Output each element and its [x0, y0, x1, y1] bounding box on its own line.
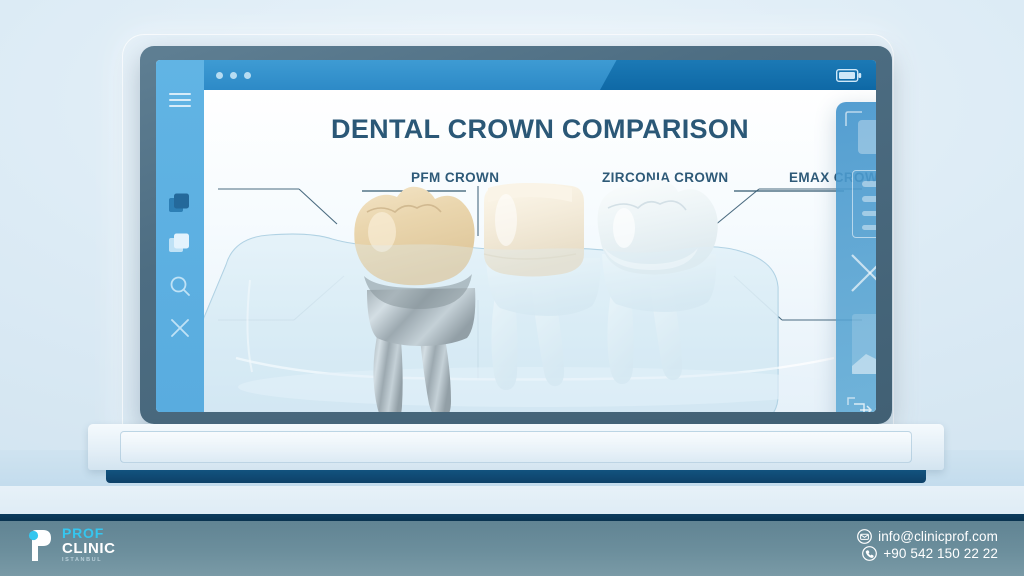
prof-clinic-logo-mark: [26, 528, 54, 562]
footer-top-strip: [0, 514, 1024, 521]
brand-logo[interactable]: PROF CLINIC ISTANBUL: [26, 526, 116, 564]
brand-city: ISTANBUL: [62, 558, 116, 564]
window-dot-3[interactable]: [244, 72, 251, 79]
laptop-front-edge: [106, 470, 926, 483]
footer-bar: PROF CLINIC ISTANBUL info@clinicprof.com: [0, 514, 1024, 576]
skeleton-text-line: [862, 225, 876, 230]
laptop-bezel: DENTAL CROWN COMPARISON PFM CROWN ZIRCON…: [140, 46, 892, 424]
window-dot-1[interactable]: [216, 72, 223, 79]
area-chart: [852, 314, 876, 374]
app-titlebar: [204, 60, 876, 90]
laptop: DENTAL CROWN COMPARISON PFM CROWN ZIRCON…: [140, 46, 892, 526]
contact-email-row[interactable]: info@clinicprof.com: [857, 529, 998, 544]
battery-icon: [836, 69, 862, 87]
contact-phone-row[interactable]: +90 542 150 22 22: [857, 546, 998, 561]
laptop-trackpad-inset: [120, 431, 912, 463]
brand-name-clinic: CLINIC: [62, 541, 116, 556]
overlay-panel: [836, 102, 876, 412]
window-dot-2[interactable]: [230, 72, 237, 79]
layers-icon[interactable]: [166, 190, 194, 218]
laptop-screen: DENTAL CROWN COMPARISON PFM CROWN ZIRCON…: [156, 60, 876, 412]
close-icon[interactable]: [166, 314, 194, 342]
brand-logo-text: PROF CLINIC ISTANBUL: [62, 526, 116, 564]
placeholder-thumbnail: [858, 120, 876, 154]
app-sidebar: [156, 60, 204, 412]
app-canvas: DENTAL CROWN COMPARISON PFM CROWN ZIRCON…: [204, 90, 876, 412]
scene-background: DENTAL CROWN COMPARISON PFM CROWN ZIRCON…: [0, 0, 1024, 576]
dental-crown-illustration: [204, 90, 876, 412]
skeleton-text-line: [862, 181, 876, 187]
x-mark-icon: [849, 252, 876, 294]
laptop-deck: [88, 424, 944, 470]
search-icon[interactable]: [166, 272, 194, 300]
contact-phone-text: +90 542 150 22 22: [883, 546, 998, 561]
contact-info: info@clinicprof.com +90 542 150 22 22: [857, 527, 998, 563]
email-icon: [857, 529, 872, 544]
phone-icon: [862, 546, 877, 561]
contact-email-text: info@clinicprof.com: [878, 529, 998, 544]
skeleton-text-line: [862, 196, 876, 202]
gum-glass-sheen: [204, 234, 778, 412]
brand-name-prof: PROF: [62, 526, 116, 540]
skeleton-text-line: [862, 211, 876, 216]
copy-icon[interactable]: [166, 230, 194, 258]
laptop-base: [88, 424, 944, 486]
window-controls[interactable]: [216, 72, 251, 79]
menu-icon[interactable]: [166, 86, 194, 114]
export-icon[interactable]: [846, 395, 876, 412]
